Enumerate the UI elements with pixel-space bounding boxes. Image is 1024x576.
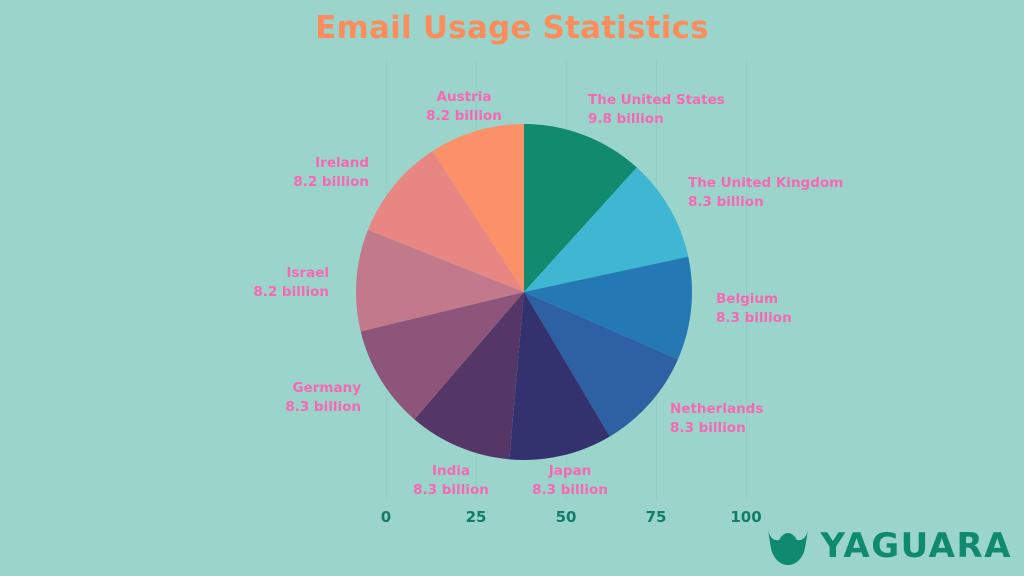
slice-label-name: Austria (314, 88, 614, 107)
slice-label-value: 8.2 billion (0, 283, 329, 302)
pie-chart (356, 124, 692, 460)
x-tick-label: 75 (646, 508, 667, 526)
jaguar-head-icon (766, 526, 810, 566)
slice-label: Austria8.2 billion (314, 88, 614, 126)
slice-label-name: Netherlands (670, 400, 763, 419)
slice-label: Israel8.2 billion (0, 264, 329, 302)
slice-label-value: 8.3 billion (716, 309, 792, 328)
slice-label-value: 8.2 billion (0, 173, 369, 192)
slice-label-value: 8.2 billion (314, 107, 614, 126)
slice-label: The United Kingdom8.3 billion (688, 174, 843, 212)
chart-canvas: Email Usage Statistics The United States… (0, 0, 1024, 576)
slice-label: Germany8.3 billion (0, 379, 361, 417)
x-tick-label: 50 (556, 508, 577, 526)
x-tick-label: 100 (730, 508, 761, 526)
pie-svg (356, 124, 692, 460)
slice-label-value: 8.3 billion (688, 193, 843, 212)
yaguara-logo[interactable]: YAGUARA (766, 526, 1012, 566)
logo-wordmark: YAGUARA (821, 526, 1012, 566)
slice-label-value: 8.3 billion (301, 481, 601, 500)
page-title: Email Usage Statistics (0, 10, 1024, 46)
x-tick-label: 0 (381, 508, 391, 526)
slice-label-name: Belgium (716, 290, 792, 309)
slice-label-name: Ireland (0, 154, 369, 173)
slice-label-name: Israel (0, 264, 329, 283)
slice-label-name: Germany (0, 379, 361, 398)
slice-label: Belgium8.3 billion (716, 290, 792, 328)
slice-label-value: 8.3 billion (670, 419, 763, 438)
slice-label-value: 8.3 billion (0, 398, 361, 417)
slice-label: Netherlands8.3 billion (670, 400, 763, 438)
slice-label-name: India (301, 462, 601, 481)
x-tick-label: 25 (466, 508, 487, 526)
slice-label-name: The United Kingdom (688, 174, 843, 193)
slice-label: India8.3 billion (301, 462, 601, 500)
slice-label: Ireland8.2 billion (0, 154, 369, 192)
